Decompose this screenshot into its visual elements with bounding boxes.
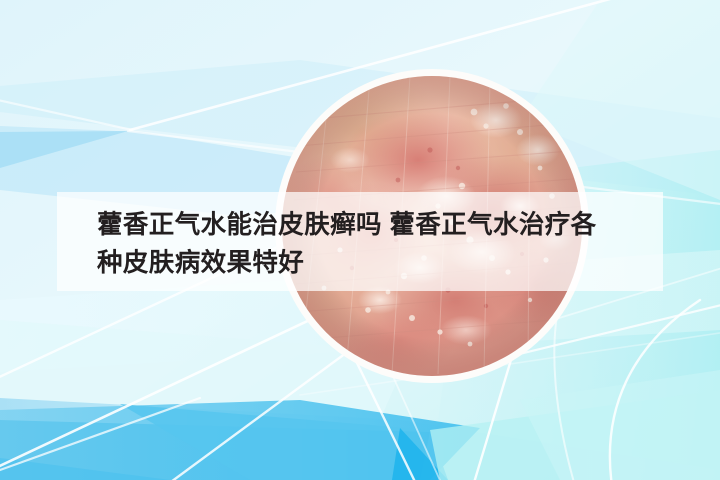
banner-image: 藿香正气水能治皮肤癣吗 藿香正气水治疗各 种皮肤病效果特好 — [0, 0, 720, 480]
title-line-2: 种皮肤病效果特好 — [97, 244, 623, 282]
page-title: 藿香正气水能治皮肤癣吗 藿香正气水治疗各 种皮肤病效果特好 — [57, 192, 663, 291]
title-line-1: 藿香正气水能治皮肤癣吗 藿香正气水治疗各 — [97, 206, 623, 244]
